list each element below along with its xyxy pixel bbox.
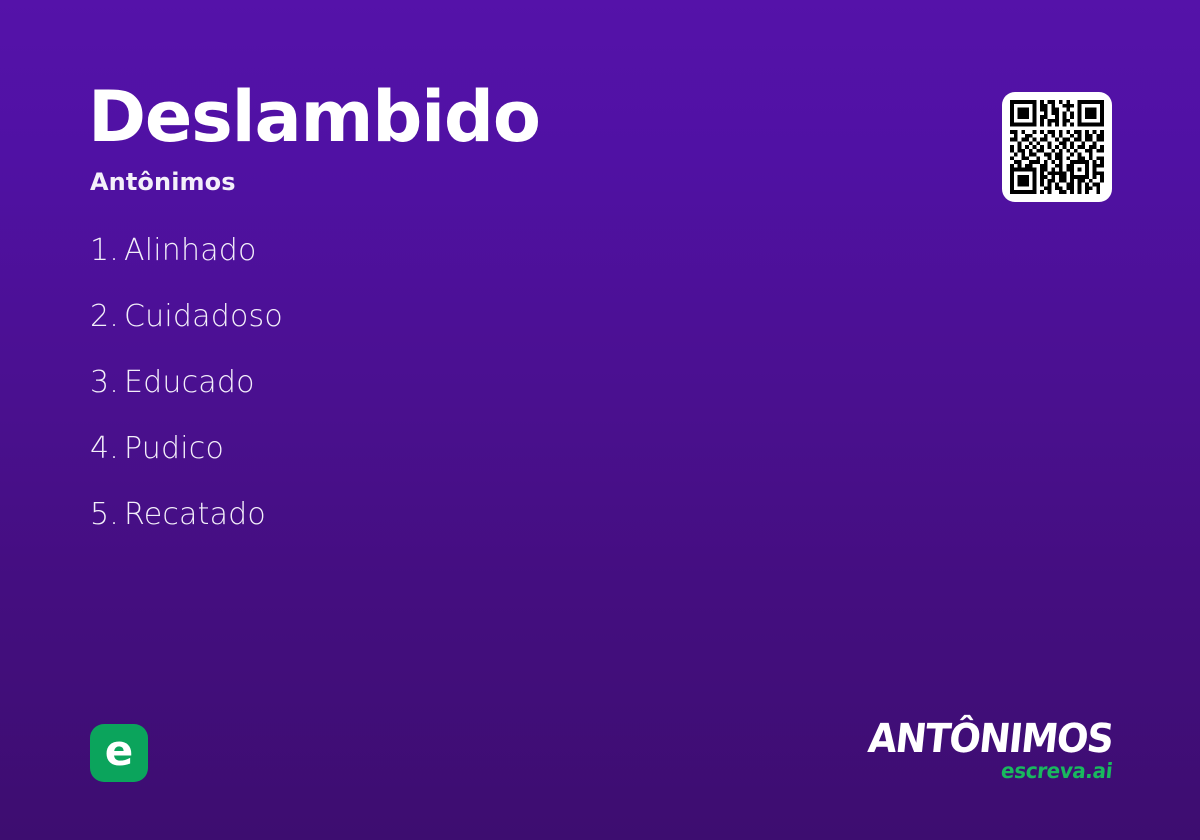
list-item-word: Educado xyxy=(124,368,255,398)
antonym-list: 1. Alinhado 2. Cuidadoso 3. Educado 4. P… xyxy=(90,236,690,566)
brand-logo[interactable]: ANTÔNIMOS escreva.ai xyxy=(850,720,1112,782)
antonyms-word-card: Deslambido Antônimos 1. Alinhado 2. Cuid… xyxy=(0,0,1200,840)
page-title: Deslambido xyxy=(88,82,540,152)
list-item: 2. Cuidadoso xyxy=(90,302,690,368)
list-item-word: Cuidadoso xyxy=(124,302,283,332)
escreva-badge-icon[interactable]: e xyxy=(90,724,148,782)
qr-code-icon[interactable] xyxy=(1002,92,1112,202)
list-item: 5. Recatado xyxy=(90,500,690,566)
list-item-index: 1. xyxy=(90,236,124,266)
list-item: 1. Alinhado xyxy=(90,236,690,302)
badge-letter: e xyxy=(105,730,134,772)
list-item-index: 2. xyxy=(90,302,124,332)
list-item-index: 5. xyxy=(90,500,124,530)
list-item-index: 4. xyxy=(90,434,124,464)
brand-logo-title: ANTÔNIMOS xyxy=(866,720,1114,758)
list-item-word: Pudico xyxy=(124,434,224,464)
list-item: 4. Pudico xyxy=(90,434,690,500)
list-item-word: Recatado xyxy=(124,500,266,530)
list-item: 3. Educado xyxy=(90,368,690,434)
list-item-index: 3. xyxy=(90,368,124,398)
brand-logo-subtitle: escreva.ai xyxy=(862,760,1114,782)
list-item-word: Alinhado xyxy=(124,236,257,266)
page-subtitle: Antônimos xyxy=(90,168,236,196)
